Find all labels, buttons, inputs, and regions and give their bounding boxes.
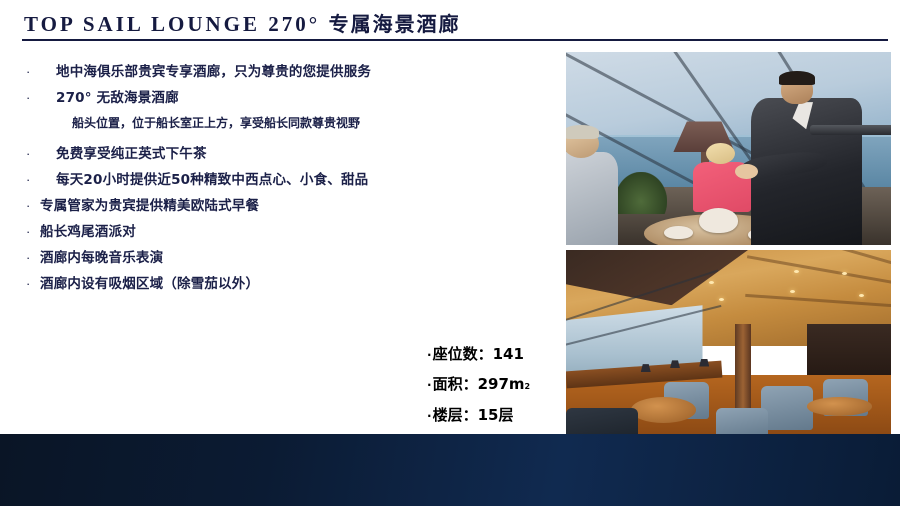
list-item-label: 每天20小时提供近50种精致中西点心、小食、甜品 <box>56 170 368 190</box>
stat-value: 297m <box>478 370 525 399</box>
stat-label: 面积： <box>433 370 478 399</box>
list-item: · 专属管家为贵宾提供精美欧陆式早餐 <box>26 196 546 216</box>
bullet-dot-icon: · <box>26 144 32 164</box>
list-item: · 地中海俱乐部贵宾专享酒廊，只为尊贵的您提供服务 <box>26 62 546 82</box>
photo-guest-left-hair <box>566 125 599 139</box>
bullet-dot-icon: · <box>427 402 432 431</box>
list-item-label: 船长鸡尾酒派对 <box>40 222 136 242</box>
bullet-dot-icon: · <box>427 371 432 400</box>
bullet-dot-icon: · <box>26 170 32 190</box>
bullet-dot-icon: · <box>26 274 32 294</box>
list-item: · 船长鸡尾酒派对 <box>26 222 546 242</box>
photo-ceiling-light <box>859 294 864 297</box>
list-item: · 酒廊内每晚音乐表演 <box>26 248 546 268</box>
photo-guest-woman-head <box>706 143 735 164</box>
photo-plant <box>615 172 667 214</box>
stat-area: · 面积： 297m2 <box>427 370 530 401</box>
stat-value: 141 <box>493 340 524 369</box>
stat-superscript: 2 <box>525 372 531 401</box>
photo-teapot <box>699 208 738 233</box>
photo-round-table <box>807 397 872 415</box>
slide: TOP SAIL LOUNGE 270° 专属海景酒廊 · 地中海俱乐部贵宾专享… <box>0 0 900 506</box>
stat-label: 座位数： <box>433 340 493 369</box>
bullet-dot-icon: · <box>26 62 32 82</box>
photo-sofa <box>566 408 638 434</box>
photo-armchair <box>716 408 768 434</box>
photo-teacup <box>664 226 693 240</box>
photo-lounge-interior <box>566 250 891 434</box>
photo-back-wall <box>807 324 892 383</box>
list-item-label: 专属管家为贵宾提供精美欧陆式早餐 <box>40 196 259 216</box>
photo-ceiling-light <box>794 270 799 273</box>
photo-guest-left-body <box>566 152 618 245</box>
bullet-dot-icon: · <box>26 222 32 242</box>
page-title: TOP SAIL LOUNGE 270° 专属海景酒廊 <box>24 8 461 37</box>
stat-label: 楼层： <box>433 401 478 430</box>
photo-serving-tray <box>810 125 891 135</box>
stat-deck: · 楼层： 15层 <box>427 401 530 431</box>
bullet-dot-icon: · <box>26 248 32 268</box>
photo-waiter-hand <box>735 164 758 179</box>
sub-detail-text: 船头位置，位于船长室正上方，享受船长同款尊贵视野 <box>72 114 546 132</box>
title-divider <box>22 39 888 41</box>
list-item: · 酒廊内设有吸烟区域（除雪茄以外） <box>26 274 546 294</box>
title-english: TOP SAIL LOUNGE 270 <box>24 12 309 36</box>
list-item-label: 免费享受纯正英式下午茶 <box>56 144 207 164</box>
title-chinese: 专属海景酒廊 <box>329 12 461 36</box>
stat-seats: · 座位数： 141 <box>427 340 530 370</box>
list-item-label: 酒廊内设有吸烟区域（除雪茄以外） <box>40 274 259 294</box>
list-item: · 免费享受纯正英式下午茶 <box>26 144 546 164</box>
list-item-label: 地中海俱乐部贵宾专享酒廊，只为尊贵的您提供服务 <box>56 62 371 82</box>
footer-bar: m sc MSC MSC YACHT CLUB • • • • • • <box>0 434 900 506</box>
list-item: · 270° 无敌海景酒廊 <box>26 88 546 108</box>
photo-wood-column <box>735 324 751 412</box>
list-item-label: 酒廊内每晚音乐表演 <box>40 248 163 268</box>
venue-stats: · 座位数： 141 · 面积： 297m2 · 楼层： 15层 <box>427 340 530 431</box>
photo-ceiling-light <box>719 298 724 301</box>
feature-bullet-list: · 地中海俱乐部贵宾专享酒廊，只为尊贵的您提供服务 · 270° 无敌海景酒廊 … <box>26 62 546 300</box>
title-degree: ° <box>309 12 318 36</box>
bullet-dot-icon: · <box>26 196 32 216</box>
photo-waiter-hair <box>779 71 815 85</box>
photo-afternoon-tea <box>566 52 891 245</box>
stat-value: 15层 <box>478 401 514 430</box>
list-item-label: 270° 无敌海景酒廊 <box>56 88 179 108</box>
list-item: · 每天20小时提供近50种精致中西点心、小食、甜品 <box>26 170 546 190</box>
bullet-dot-icon: · <box>427 341 432 370</box>
bullet-dot-icon: · <box>26 88 32 108</box>
photo-round-table <box>631 397 696 423</box>
photo-armchair <box>761 386 813 430</box>
